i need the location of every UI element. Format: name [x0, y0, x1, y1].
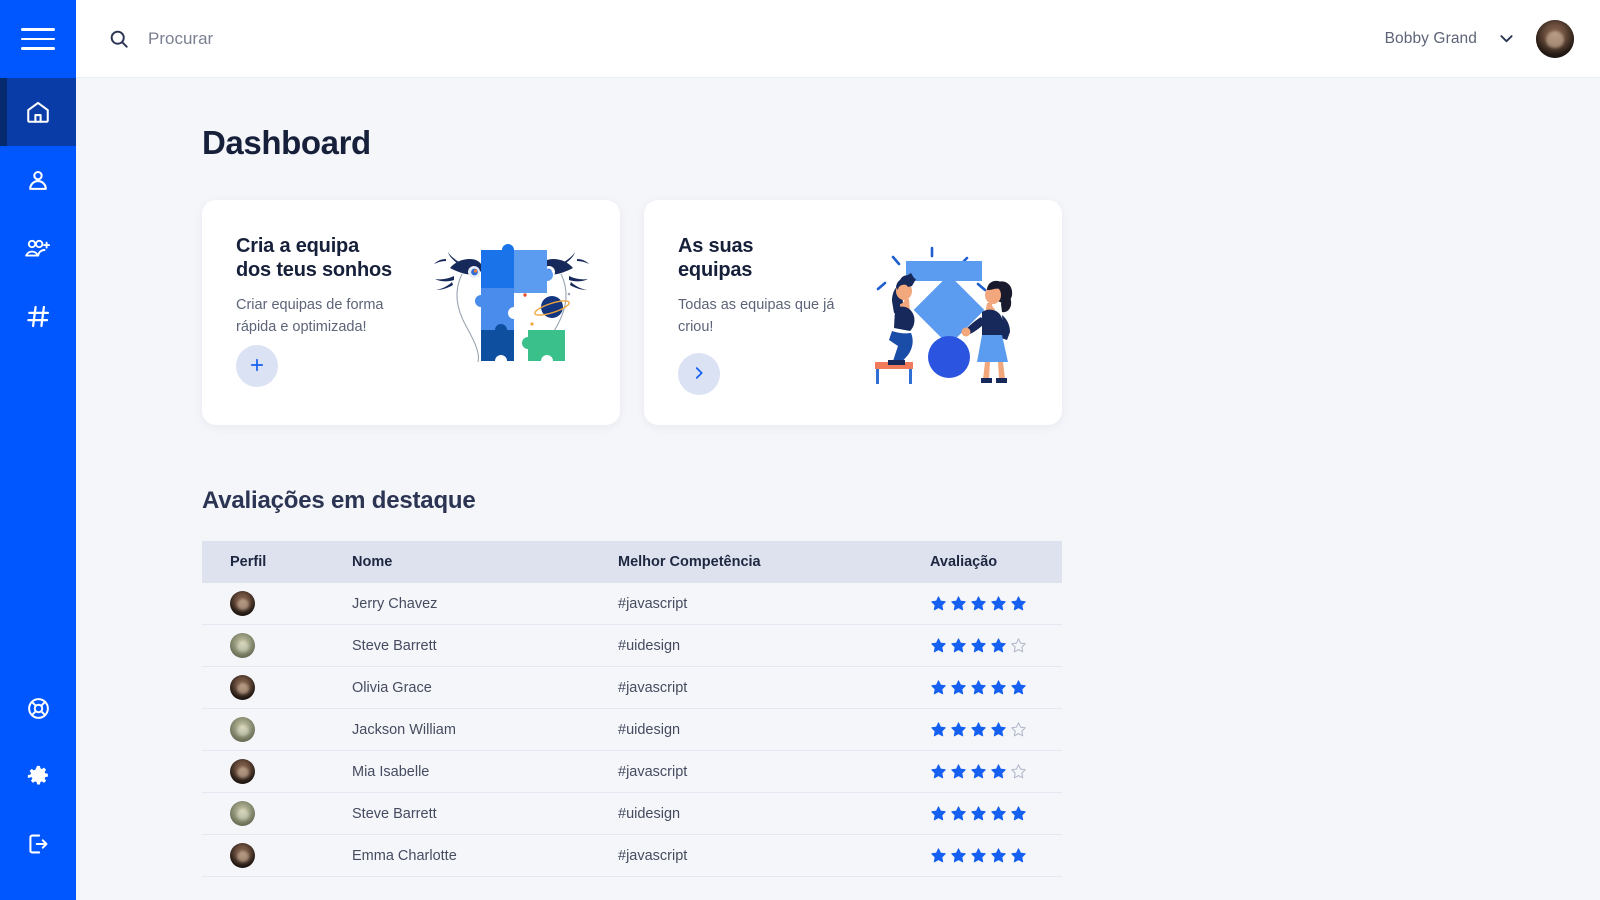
table-row[interactable]: Jerry Chavez#javascript — [202, 583, 1062, 625]
user-menu[interactable]: Bobby Grand — [1385, 20, 1574, 58]
row-avatar[interactable] — [230, 801, 255, 826]
logout-icon — [25, 831, 51, 857]
cell-competencia: #javascript — [618, 835, 930, 877]
cell-avaliacao — [930, 751, 1062, 793]
sidebar-item-logout[interactable] — [0, 810, 76, 878]
home-icon — [25, 99, 51, 125]
card-title: Cria a equipa dos teus sonhos — [236, 234, 620, 283]
avatar-image — [230, 675, 255, 700]
topbar: Bobby Grand — [76, 0, 1600, 78]
hash-icon — [25, 303, 52, 330]
avatar-image — [1536, 20, 1574, 58]
column-header-perfil[interactable]: Perfil — [202, 541, 352, 583]
sidebar-item-home[interactable] — [0, 78, 76, 146]
cell-perfil — [202, 625, 352, 667]
sidebar-item-profile[interactable] — [0, 146, 76, 214]
row-avatar[interactable] — [230, 717, 255, 742]
avatar-image — [230, 801, 255, 826]
create-team-button[interactable] — [236, 345, 278, 387]
chevron-down-icon[interactable] — [1497, 29, 1516, 48]
cell-competencia: #javascript — [618, 751, 930, 793]
table-row[interactable]: Jackson William#uidesign — [202, 709, 1062, 751]
cell-avaliacao — [930, 793, 1062, 835]
user-name-label: Bobby Grand — [1385, 30, 1477, 48]
column-header-nome[interactable]: Nome — [352, 541, 618, 583]
table-body: Jerry Chavez#javascriptSteve Barrett#uid… — [202, 583, 1062, 877]
cell-avaliacao — [930, 583, 1062, 625]
cell-avaliacao — [930, 835, 1062, 877]
avatar[interactable] — [1536, 20, 1574, 58]
cell-nome: Jackson William — [352, 709, 618, 751]
sidebar-item-add-team[interactable] — [0, 214, 76, 282]
rating-stars[interactable] — [930, 679, 1062, 696]
hamburger-icon — [21, 28, 55, 50]
row-avatar[interactable] — [230, 759, 255, 784]
rating-stars[interactable] — [930, 721, 1062, 738]
sidebar-item-support[interactable] — [0, 674, 76, 742]
column-header-competencia[interactable]: Melhor Competência — [618, 541, 930, 583]
avatar-image — [230, 717, 255, 742]
row-avatar[interactable] — [230, 843, 255, 868]
plus-icon — [248, 356, 266, 377]
cell-nome: Steve Barrett — [352, 625, 618, 667]
sidebar-nav-top — [0, 78, 76, 350]
rating-stars[interactable] — [930, 763, 1062, 780]
ratings-table: Perfil Nome Melhor Competência Avaliação… — [202, 541, 1062, 877]
sidebar-item-tags[interactable] — [0, 282, 76, 350]
cell-nome: Mia Isabelle — [352, 751, 618, 793]
row-avatar[interactable] — [230, 633, 255, 658]
gear-icon — [26, 764, 51, 789]
cell-nome: Jerry Chavez — [352, 583, 618, 625]
app-root: Bobby Grand Dashboard Cria a equipa dos … — [0, 0, 1600, 900]
card-subtitle: Todas as equipas que já criou! — [678, 294, 863, 338]
view-teams-button[interactable] — [678, 353, 720, 395]
page-title: Dashboard — [202, 124, 1600, 162]
table-row[interactable]: Olivia Grace#javascript — [202, 667, 1062, 709]
cell-nome: Steve Barrett — [352, 793, 618, 835]
table-row[interactable]: Steve Barrett#uidesign — [202, 793, 1062, 835]
cell-competencia: #javascript — [618, 583, 930, 625]
table-header-row: Perfil Nome Melhor Competência Avaliação — [202, 541, 1062, 583]
column-header-avaliacao[interactable]: Avaliação — [930, 541, 1062, 583]
row-avatar[interactable] — [230, 675, 255, 700]
search-icon — [108, 28, 130, 50]
search-input[interactable] — [148, 25, 568, 53]
cell-nome: Emma Charlotte — [352, 835, 618, 877]
table-row[interactable]: Steve Barrett#uidesign — [202, 625, 1062, 667]
card-subtitle: Criar equipas de forma rápida e optimiza… — [236, 294, 421, 338]
rating-stars[interactable] — [930, 595, 1062, 612]
table-header: Perfil Nome Melhor Competência Avaliação — [202, 541, 1062, 583]
featured-ratings-section: Avaliações em destaque Perfil Nome Melho… — [202, 487, 1600, 877]
cell-competencia: #javascript — [618, 667, 930, 709]
sidebar-item-settings[interactable] — [0, 742, 76, 810]
cell-perfil — [202, 709, 352, 751]
user-icon — [25, 167, 51, 193]
cell-perfil — [202, 751, 352, 793]
sidebar-nav-bottom — [0, 674, 76, 900]
card-your-teams[interactable]: As suas equipas Todas as equipas que já … — [644, 200, 1062, 425]
cell-perfil — [202, 793, 352, 835]
cell-competencia: #uidesign — [618, 625, 930, 667]
hamburger-menu-button[interactable] — [0, 0, 76, 78]
rating-stars[interactable] — [930, 847, 1062, 864]
section-title: Avaliações em destaque — [202, 487, 1600, 515]
chevron-right-icon — [690, 364, 708, 385]
table-row[interactable]: Mia Isabelle#javascript — [202, 751, 1062, 793]
cell-avaliacao — [930, 709, 1062, 751]
cell-perfil — [202, 667, 352, 709]
lifebuoy-icon — [26, 696, 51, 721]
cell-avaliacao — [930, 625, 1062, 667]
cell-avaliacao — [930, 667, 1062, 709]
avatar-image — [230, 633, 255, 658]
user-plus-icon — [24, 235, 52, 261]
row-avatar[interactable] — [230, 591, 255, 616]
rating-stars[interactable] — [930, 637, 1062, 654]
cell-competencia: #uidesign — [618, 793, 930, 835]
cell-perfil — [202, 583, 352, 625]
rating-stars[interactable] — [930, 805, 1062, 822]
sidebar — [0, 0, 76, 900]
cell-competencia: #uidesign — [618, 709, 930, 751]
promo-cards: Cria a equipa dos teus sonhos Criar equi… — [202, 200, 1600, 425]
card-create-team[interactable]: Cria a equipa dos teus sonhos Criar equi… — [202, 200, 620, 425]
search-bar[interactable] — [108, 25, 1385, 53]
table-row[interactable]: Emma Charlotte#javascript — [202, 835, 1062, 877]
cell-nome: Olivia Grace — [352, 667, 618, 709]
avatar-image — [230, 591, 255, 616]
content-area: Dashboard Cria a equipa dos teus sonhos … — [76, 78, 1600, 900]
cell-perfil — [202, 835, 352, 877]
avatar-image — [230, 843, 255, 868]
card-title: As suas equipas — [678, 234, 1062, 283]
avatar-image — [230, 759, 255, 784]
main-column: Bobby Grand Dashboard Cria a equipa dos … — [76, 0, 1600, 900]
